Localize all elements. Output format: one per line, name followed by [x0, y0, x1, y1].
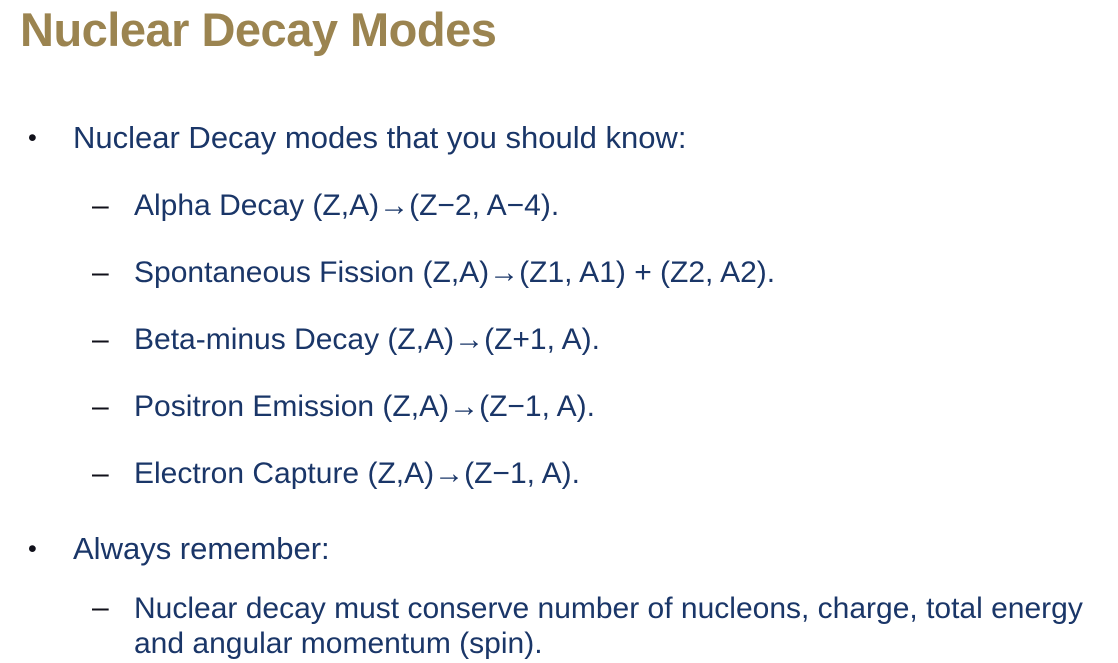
bullet-level2-conservation-note: – Nuclear decay must conserve number of …: [0, 591, 1118, 661]
page-title: Nuclear Decay Modes: [20, 2, 496, 57]
bullet-level2-label: Alpha Decay (Z,A)→(Z−2, A−4).: [134, 189, 559, 222]
bullet-level1-always-remember: • Always remember:: [0, 531, 1118, 567]
bullet-level1-label: Always remember:: [73, 531, 330, 566]
bullet-dash-icon: –: [92, 390, 114, 424]
bullet-dash-icon: –: [92, 323, 114, 357]
bullet-level1-label: Nuclear Decay modes that you should know…: [73, 120, 686, 155]
bullet-level2-label: Beta-minus Decay (Z,A)→(Z+1, A).: [134, 323, 600, 356]
bullet-level2-label: Nuclear decay must conserve number of nu…: [134, 591, 1094, 661]
bullet-level1-decay-modes: • Nuclear Decay modes that you should kn…: [0, 120, 1118, 156]
bullet-dash-icon: –: [92, 189, 114, 223]
bullet-dash-icon: –: [92, 457, 114, 491]
bullet-level2-beta-minus-decay: – Beta-minus Decay (Z,A)→(Z+1, A).: [0, 323, 1118, 357]
bullet-level2-label: Positron Emission (Z,A)→(Z−1, A).: [134, 390, 595, 423]
bullet-level2-positron-emission: – Positron Emission (Z,A)→(Z−1, A).: [0, 390, 1118, 424]
bullet-level2-alpha-decay: – Alpha Decay (Z,A)→(Z−2, A−4).: [0, 189, 1118, 223]
bullet-dot-icon: •: [28, 120, 44, 156]
section-spacer: [0, 491, 1118, 507]
bullet-dash-icon: –: [92, 256, 114, 290]
slide-body: • Nuclear Decay modes that you should kn…: [0, 120, 1118, 661]
bullet-dot-icon: •: [28, 531, 44, 567]
bullet-level2-spontaneous-fission: – Spontaneous Fission (Z,A)→(Z1, A1) + (…: [0, 256, 1118, 290]
slide-canvas: Nuclear Decay Modes • Nuclear Decay mode…: [0, 0, 1118, 663]
bullet-level2-electron-capture: – Electron Capture (Z,A)→(Z−1, A).: [0, 457, 1118, 491]
bullet-dash-icon: –: [92, 591, 114, 625]
bullet-level2-label: Electron Capture (Z,A)→(Z−1, A).: [134, 457, 580, 490]
bullet-level2-label: Spontaneous Fission (Z,A)→(Z1, A1) + (Z2…: [134, 256, 775, 289]
